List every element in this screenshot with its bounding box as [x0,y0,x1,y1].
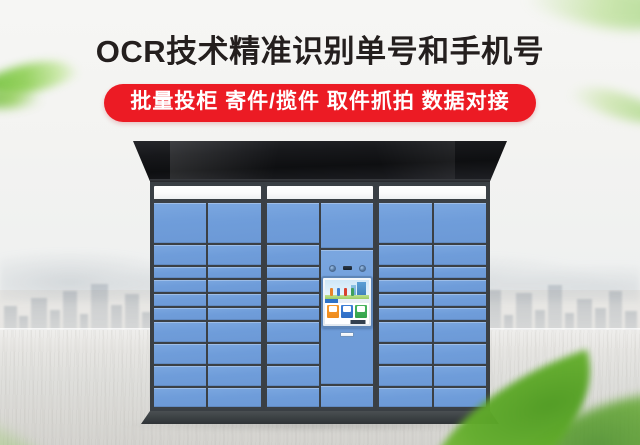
terminal-screen-bezel [321,276,373,328]
locker-door[interactable] [321,203,373,248]
locker-door[interactable] [434,388,486,407]
box-icon [343,306,351,312]
center-panel-column-2 [321,203,373,407]
banner-figure-icon [337,288,340,296]
locker-door[interactable] [267,308,319,320]
locker-door[interactable] [267,322,319,342]
locker-door[interactable] [434,203,486,243]
locker-door[interactable] [208,203,260,243]
screen-promo-banner [325,280,369,299]
banner-figure-icon [344,288,347,296]
feature-pill: 批量投柜 寄件/揽件 取件抓拍 数据对接 [104,84,535,122]
locker-door[interactable] [154,388,206,407]
screen-action-buttons [325,303,369,320]
locker-door[interactable] [208,388,260,407]
locker-door[interactable] [434,267,486,279]
parcel-locker-cabinet [133,141,507,423]
locker-door[interactable] [321,386,373,407]
locker-door[interactable] [267,294,319,306]
left-panel-column-2 [208,203,260,407]
locker-door[interactable] [434,344,486,364]
send-button[interactable] [355,305,367,318]
locker-door[interactable] [208,366,260,386]
locker-door[interactable] [154,280,206,292]
locker-door[interactable] [379,322,431,342]
self-service-terminal[interactable] [321,263,373,337]
locker-door[interactable] [154,344,206,364]
camera-lens-icon [359,265,366,272]
locker-door[interactable] [434,366,486,386]
locker-door[interactable] [154,322,206,342]
right-panel-door-grid [377,201,488,409]
locker-door[interactable] [267,280,319,292]
locker-door[interactable] [267,203,319,243]
locker-door[interactable] [208,280,260,292]
locker-door[interactable] [267,366,319,386]
locker-door[interactable] [208,267,260,279]
center-panel-header-strip [267,186,374,201]
locker-door[interactable] [208,344,260,364]
right-panel [377,184,488,409]
locker-door[interactable] [208,294,260,306]
locker-door[interactable] [267,344,319,364]
locker-door[interactable] [154,294,206,306]
locker-door[interactable] [379,308,431,320]
locker-door[interactable] [379,366,431,386]
left-panel-door-grid [152,201,263,409]
deposit-button[interactable] [327,305,339,318]
banner-figure-icon [330,288,333,296]
locker-door[interactable] [379,267,431,279]
right-panel-header-strip [379,186,486,201]
locker-door[interactable] [154,245,206,264]
locker-door[interactable] [434,245,486,264]
locker-door[interactable] [208,245,260,264]
locker-door[interactable] [267,267,319,279]
box-icon [329,306,337,312]
locker-door[interactable] [379,245,431,264]
locker-door[interactable] [208,322,260,342]
terminal-sensor-bar [321,263,373,273]
locker-door[interactable] [379,280,431,292]
locker-door[interactable] [434,308,486,320]
locker-door[interactable] [208,308,260,320]
promo-banner-image: OCR技术精准识别单号和手机号 批量投柜 寄件/揽件 取件抓拍 数据对接 [0,0,640,445]
pickup-button[interactable] [341,305,353,318]
locker-door[interactable] [434,294,486,306]
canopy-sheen [170,141,342,181]
box-icon [357,306,365,312]
banner-figure-icon [351,288,354,296]
cabinet-base-plinth [141,411,499,424]
center-panel-door-grid [265,201,376,409]
locker-door[interactable] [154,203,206,243]
right-panel-column-1 [379,203,431,407]
left-panel-header-strip [154,186,261,201]
locker-door[interactable] [154,267,206,279]
page-title: OCR技术精准识别单号和手机号 [0,26,640,71]
locker-body [150,182,490,411]
left-panel [152,184,265,409]
locker-door[interactable] [154,308,206,320]
canopy-sheen-secondary [350,141,455,181]
left-panel-column-1 [154,203,206,407]
center-panel [265,184,378,409]
center-panel-column-1 [267,203,319,407]
screen-footer-bar [325,320,369,324]
card-reader-slot[interactable] [340,332,354,337]
locker-door[interactable] [379,294,431,306]
locker-door[interactable] [434,322,486,342]
scanner-window-icon [343,266,352,270]
locker-door[interactable] [267,245,319,264]
locker-door[interactable] [379,388,431,407]
terminal-screen[interactable] [325,280,369,324]
locker-door[interactable] [434,280,486,292]
locker-door[interactable] [379,203,431,243]
locker-door[interactable] [154,366,206,386]
locker-door[interactable] [379,344,431,364]
feature-pill-container: 批量投柜 寄件/揽件 取件抓拍 数据对接 [0,84,640,122]
locker-door[interactable] [267,388,319,407]
right-panel-column-2 [434,203,486,407]
canopy-roof [133,141,507,181]
camera-lens-icon [329,265,336,272]
